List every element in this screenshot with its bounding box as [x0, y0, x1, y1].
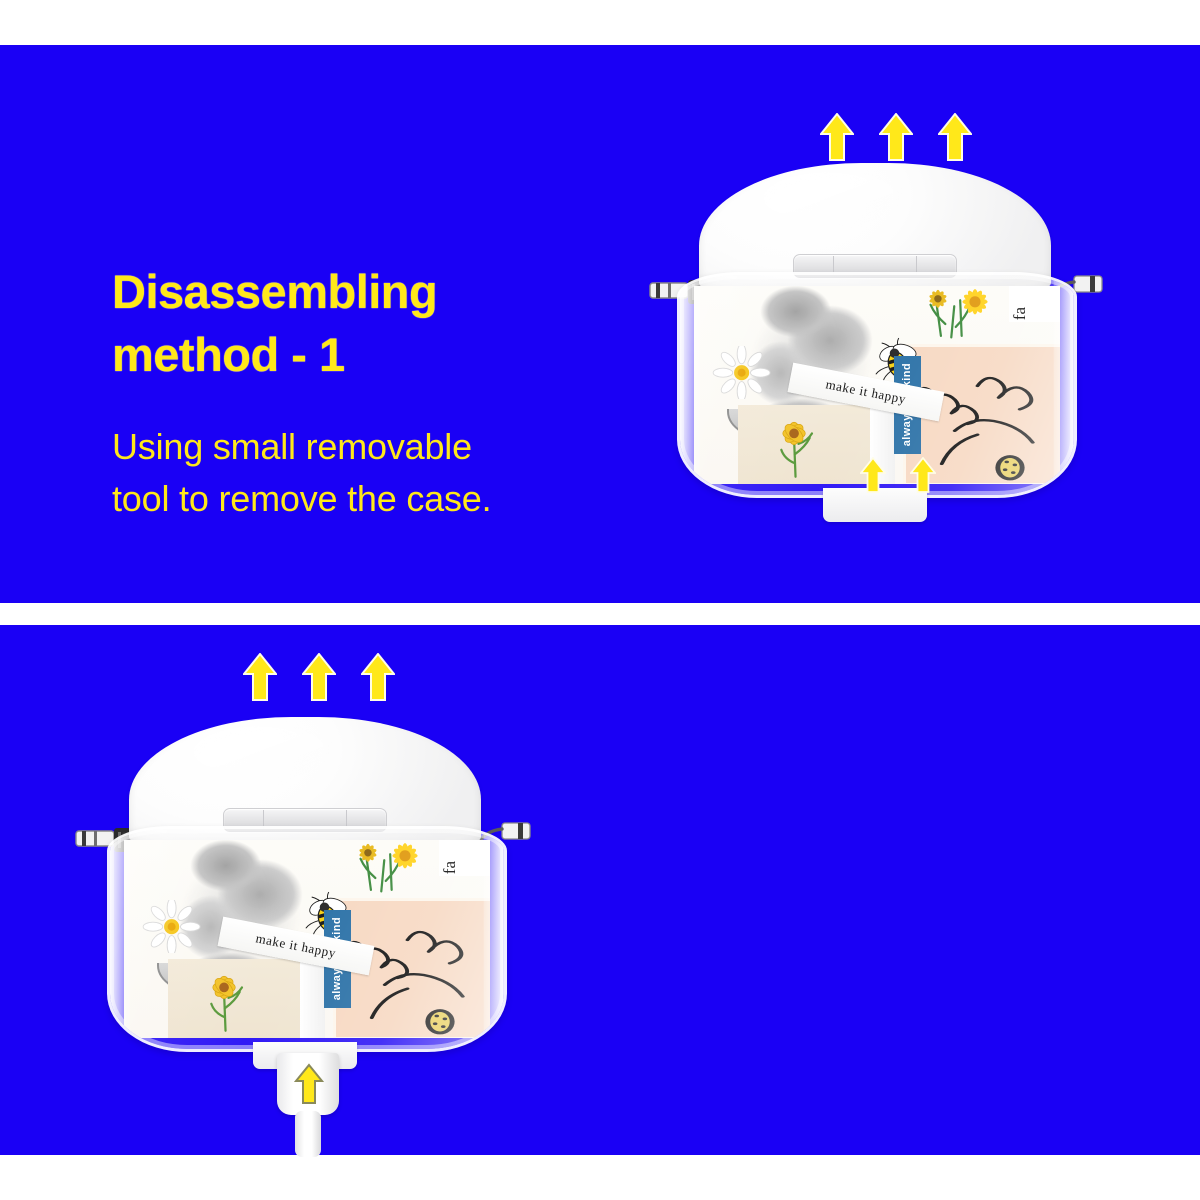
- partial-word-text: fa: [1009, 305, 1031, 322]
- lid-highlight: [762, 171, 903, 227]
- collage-artwork: always be kind make it happy fa: [124, 840, 490, 1038]
- white-daisy-icon: [705, 346, 778, 399]
- clear-case-shell: always be kind make it happy fa: [107, 826, 507, 1052]
- up-arrow-icon: [294, 1063, 324, 1105]
- collage-artwork: always be kind make it happy fa: [694, 286, 1060, 484]
- partial-word-label: fa: [1009, 286, 1060, 322]
- partial-word-text: fa: [439, 859, 461, 876]
- yellow-sunflowers-icon: [899, 286, 1020, 339]
- up-arrow-icon: [910, 457, 936, 493]
- case-bottom-nub: [823, 488, 926, 522]
- up-arrow-icon: [361, 653, 395, 701]
- airpods-case-method-2: always be kind make it happy fa: [90, 717, 520, 1059]
- airpods-case-method-1: always be kind make it happy fa: [660, 163, 1090, 505]
- method-1-text-block: Disassembling method - 1 Using small rem…: [112, 261, 612, 523]
- top-white-band: [0, 0, 1200, 45]
- yellow-cosmos-flower-icon: [749, 411, 841, 478]
- lid-highlight: [192, 725, 333, 781]
- up-arrow-icon: [243, 653, 277, 701]
- instruction-graphic: Disassembling method - 1 Using small rem…: [0, 0, 1200, 1200]
- method-1-subtext-line2: tool to remove the case.: [112, 474, 612, 524]
- white-paper-strip: [300, 959, 326, 1038]
- up-arrow-icon: [302, 653, 336, 701]
- method-1-heading-line2: method - 1: [112, 324, 612, 387]
- method-1-heading-line1: Disassembling: [112, 261, 612, 324]
- panel-method-2: Disassembling method - 2 Using charging …: [0, 625, 1200, 1155]
- up-arrow-icon: [820, 113, 854, 161]
- bottom-white-band: [0, 1155, 1200, 1200]
- method-1-subtext-line1: Using small removable: [112, 422, 612, 472]
- panel-method-1: Disassembling method - 1 Using small rem…: [0, 45, 1200, 603]
- up-arrow-icon: [860, 457, 886, 493]
- panel-divider: [0, 603, 1200, 625]
- white-daisy-icon: [135, 900, 208, 953]
- yellow-sunflowers-icon: [329, 840, 450, 893]
- charging-cable: [295, 1111, 321, 1157]
- partial-word-label: fa: [439, 840, 490, 876]
- up-arrow-icon: [938, 113, 972, 161]
- yellow-cosmos-flower-icon: [179, 965, 271, 1032]
- up-arrow-icon: [879, 113, 913, 161]
